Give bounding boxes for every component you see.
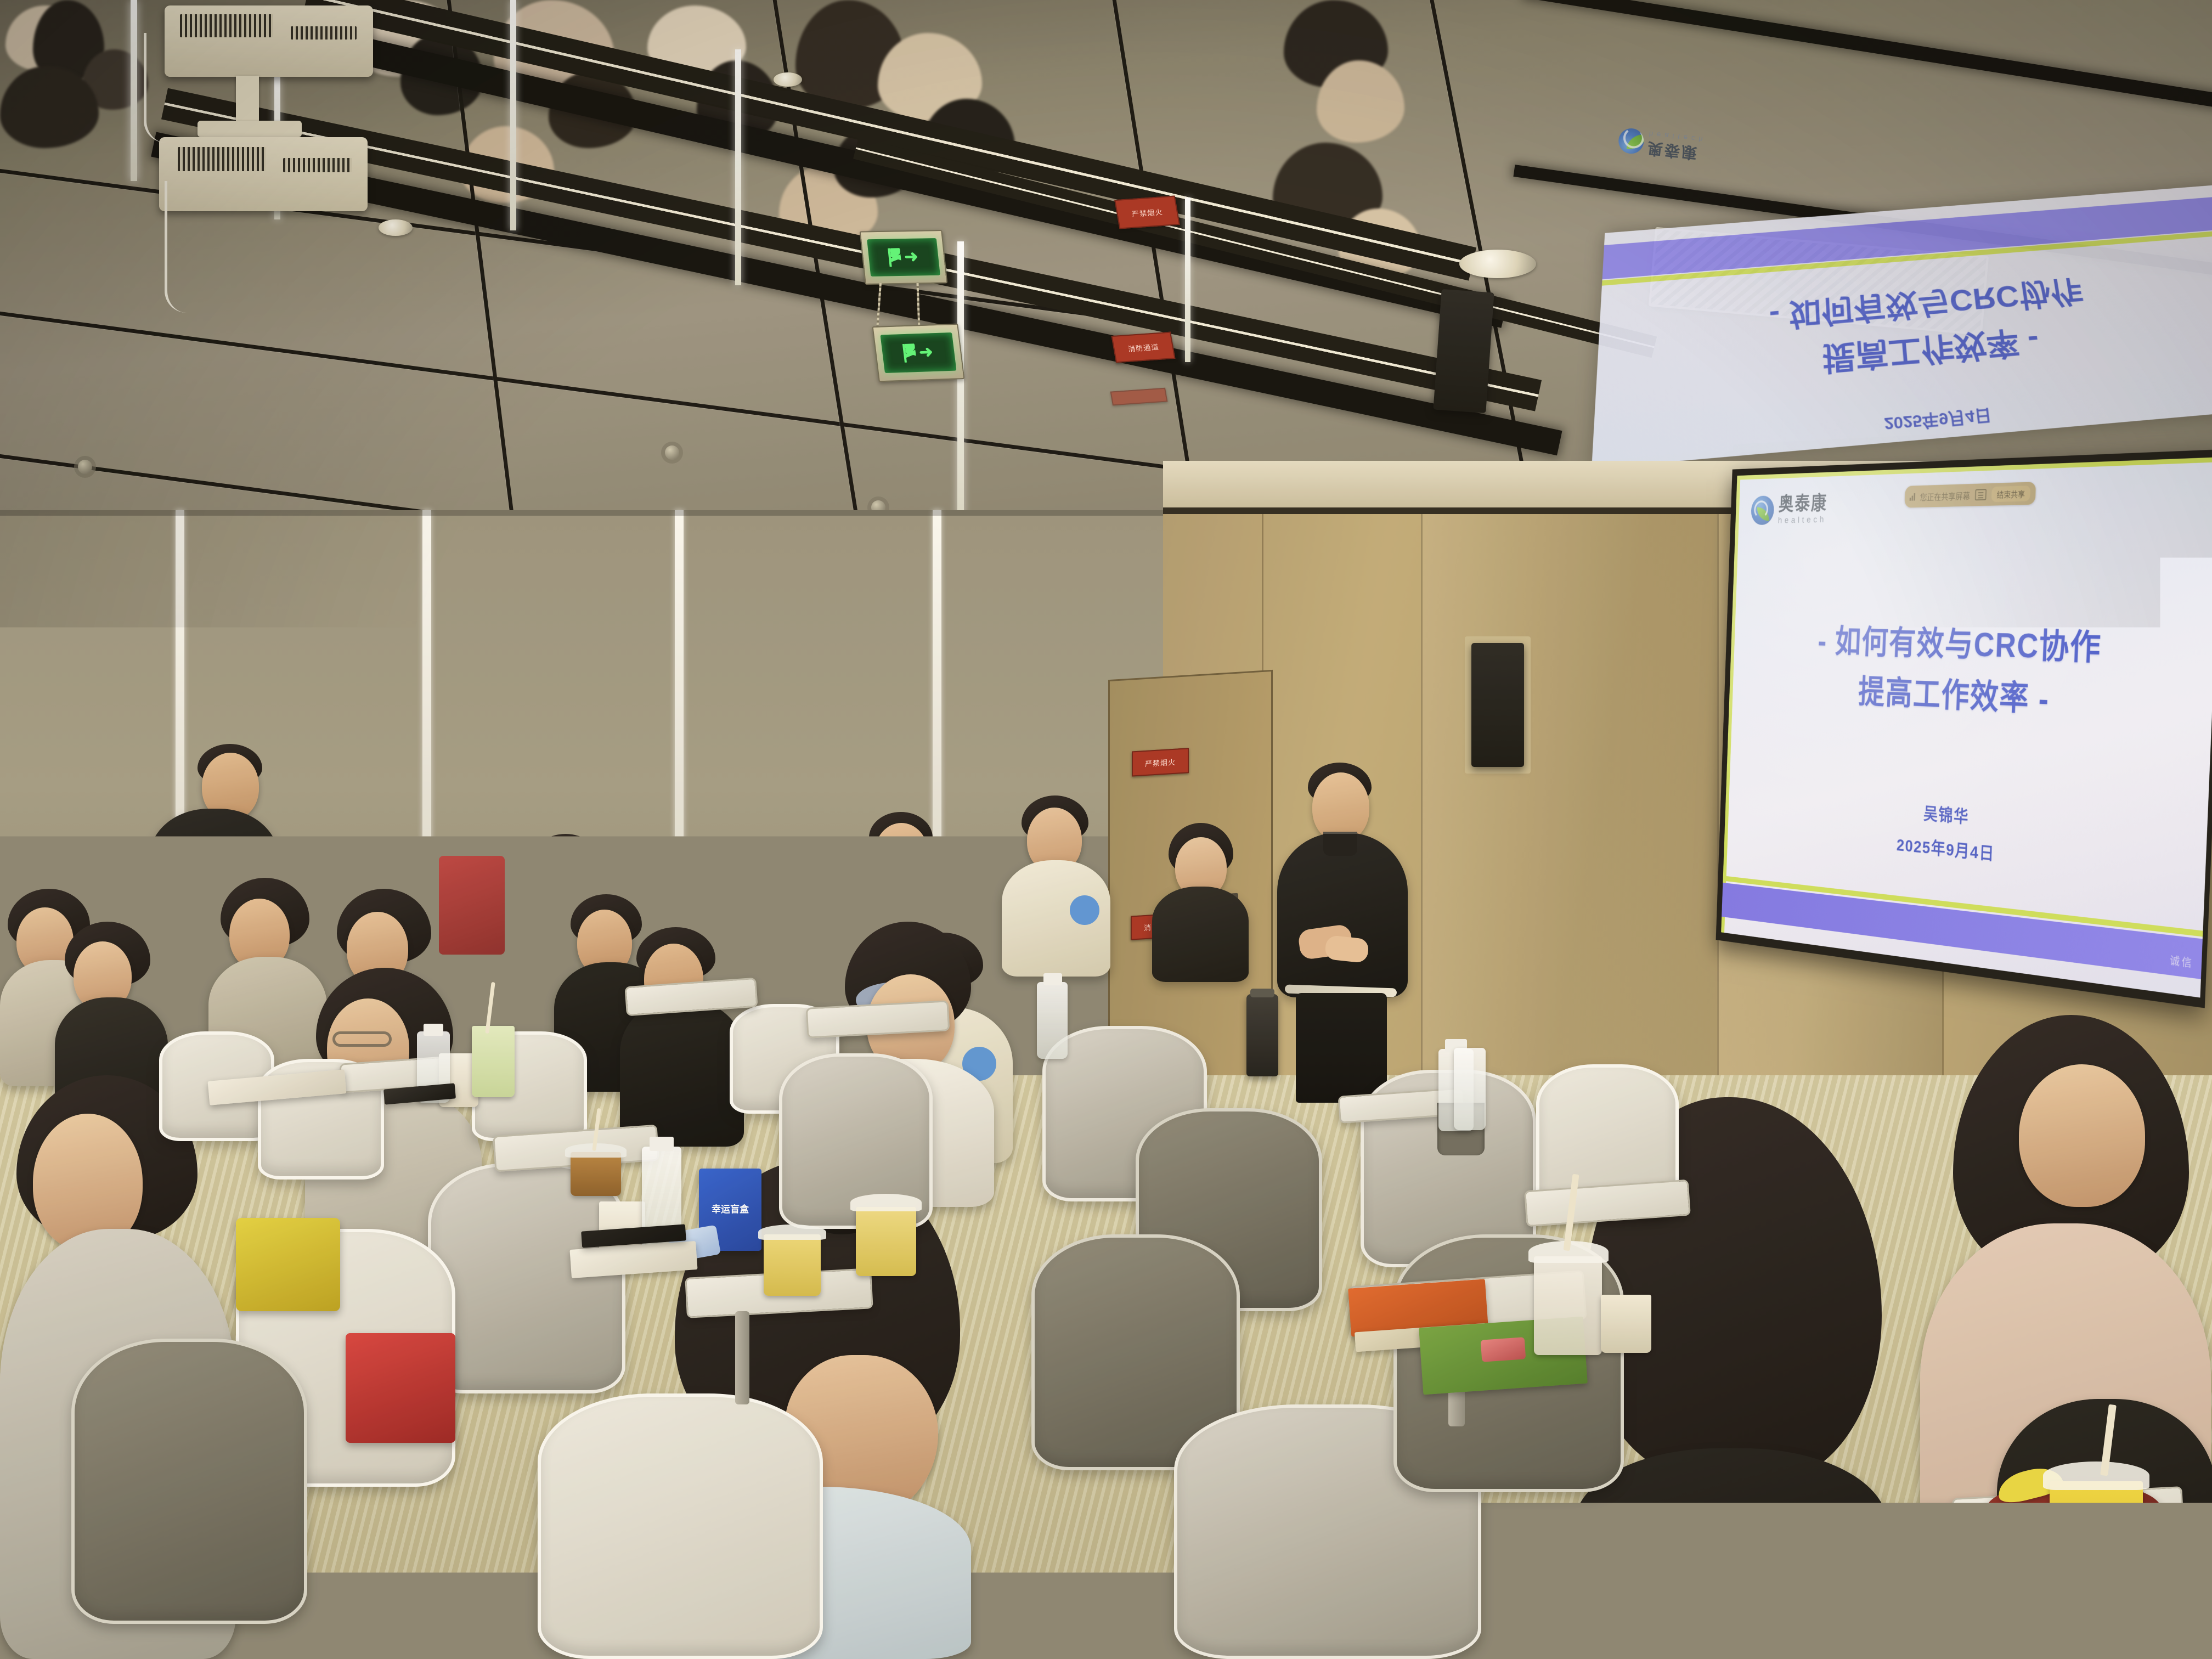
ceiling-sprinkler — [665, 445, 679, 460]
fire-safety-sign — [1110, 388, 1168, 406]
tablet-arm-chair[interactable] — [538, 1393, 823, 1659]
ceiling-projector — [165, 5, 373, 77]
fire-safety-sign: 严禁烟火 — [1132, 748, 1189, 776]
audience-member — [620, 927, 746, 1147]
juice-cup — [856, 1207, 916, 1276]
end-share-button[interactable]: 结束共享 — [1991, 486, 2031, 502]
exit-sign: ➜ — [872, 324, 965, 382]
recessed-downlight — [774, 72, 802, 87]
audience-member — [1002, 795, 1111, 977]
water-bottle — [1037, 982, 1068, 1059]
exit-arrow-icon: ➜ — [904, 249, 919, 266]
water-bottle — [1454, 1048, 1486, 1130]
wall-speaker — [1471, 643, 1524, 767]
tablet-arm-chair[interactable] — [428, 1163, 625, 1393]
slide-surface: 奥泰康 healtech 您正在共享屏幕 结束共享 - 如何有效与CRC协作 提… — [1721, 457, 2212, 997]
exit-sign: ➜ — [860, 230, 948, 285]
juice-cup — [764, 1234, 821, 1296]
fire-safety-sign: 消防通道 — [1111, 332, 1175, 363]
recessed-downlight — [379, 219, 413, 236]
recessed-downlight — [1459, 250, 1536, 278]
signal-bars-icon — [1910, 493, 1915, 500]
milk-tea-cup — [1534, 1256, 1602, 1355]
screen-share-status: 您正在共享屏幕 — [1920, 489, 1970, 503]
logo-chinese-name: 奥泰康 — [1778, 493, 1827, 513]
black-thermos — [1246, 994, 1278, 1076]
iced-coffee-cup — [571, 1152, 621, 1196]
juice-cup — [2050, 1481, 2143, 1596]
presenter — [1273, 763, 1415, 1103]
wall-speaker-reflection — [1433, 289, 1494, 413]
healtech-logo-icon — [1751, 495, 1774, 525]
audience-member — [1152, 823, 1251, 982]
running-figure-icon — [902, 343, 917, 363]
screen-share-bar[interactable]: 您正在共享屏幕 结束共享 — [1904, 482, 2036, 507]
mystery-box-label: 幸运盲盒 — [712, 1204, 749, 1215]
projection-screen: 奥泰康 healtech 您正在共享屏幕 结束共享 - 如何有效与CRC协作 提… — [1716, 449, 2212, 1008]
exit-arrow-icon: ➜ — [918, 344, 934, 361]
screen-share-icon — [1975, 489, 1987, 500]
paper-cup — [1601, 1295, 1651, 1353]
slide-reflection: 2025年9月4日 提高工作效率 - - 如何有效与CRC协作 — [1592, 184, 2212, 469]
company-logo: 奥泰康 healtech — [1751, 493, 1828, 526]
slide-title: - 如何有效与CRC协作 提高工作效率 - — [1729, 615, 2212, 734]
running-figure-icon — [888, 248, 902, 267]
tablet-arm-chair[interactable] — [71, 1339, 307, 1624]
photo-scene: ➜ ➜ 严禁烟火 消防通道 2025年9月4日 提高工作效率 - - 如何有效与… — [0, 0, 2212, 1659]
slide-footer-note: 诚信 — [2170, 952, 2194, 970]
slide-byline: 吴锦华 2025年9月4日 — [1724, 781, 2208, 893]
fire-safety-sign: 严禁烟火 — [1114, 196, 1180, 229]
ceiling-sprinkler — [78, 460, 92, 474]
logo-english-name: healtech — [1778, 515, 1827, 525]
